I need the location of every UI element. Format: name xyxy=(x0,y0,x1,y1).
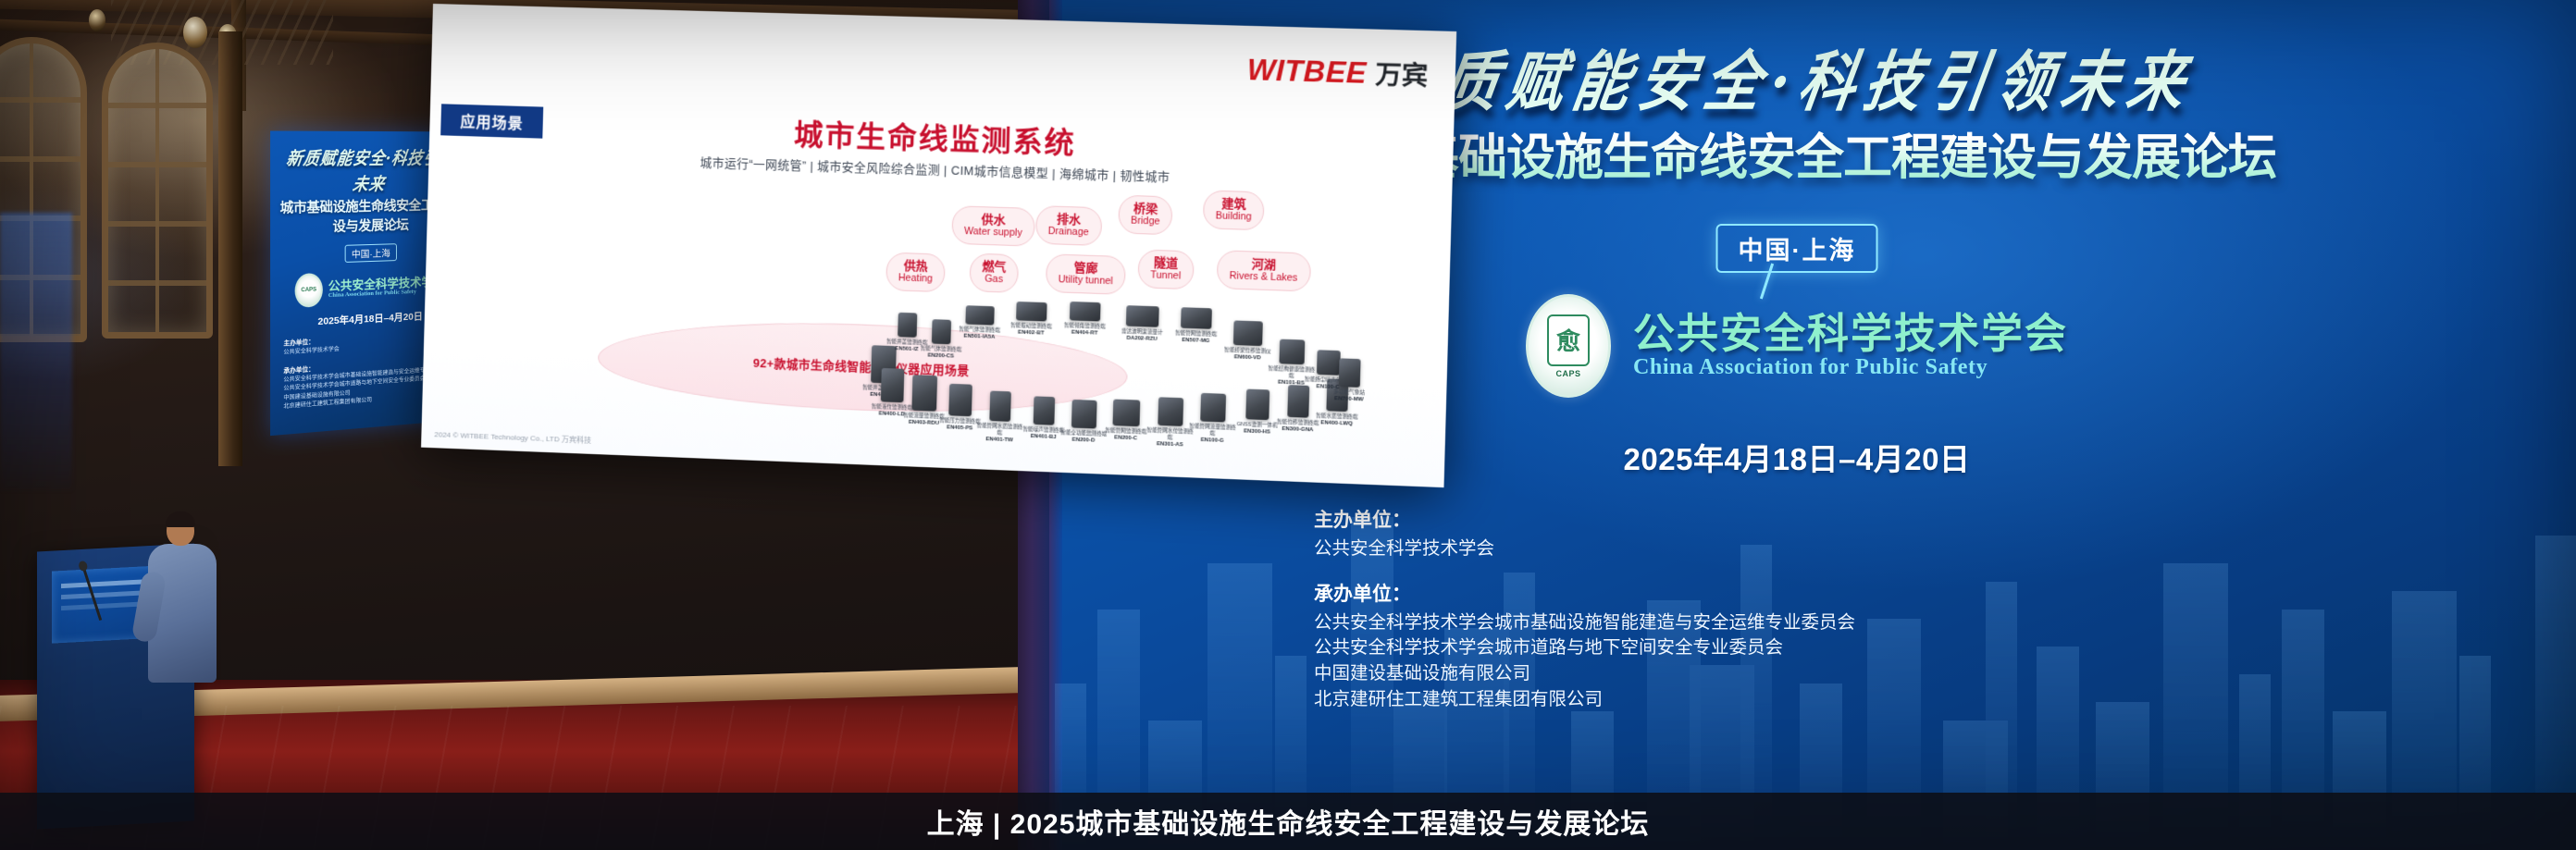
presentation-slide: WITBEE 万宾 应用场景 城市生命线监测系统 城市运行“一网统管” | 城市… xyxy=(421,4,1456,487)
led-coorg-line-3: 中国建设基础设施有限公司 xyxy=(1314,661,2452,687)
device-item-18: 雷达波明渠流量计DA202-RZU xyxy=(1117,305,1168,343)
device-item-15: 智能气体监测终端EN501-IA5A xyxy=(955,305,1005,340)
scenario-pill-en: Water supply xyxy=(964,226,1022,239)
caps-seal-caps: CAPS xyxy=(1555,369,1580,378)
device-item-17: 智能倾角监测终端EN404-RT xyxy=(1059,302,1110,338)
scenario-pill-en: Building xyxy=(1216,211,1252,224)
scenario-pill-cn: 建筑 xyxy=(1216,197,1252,212)
device-image xyxy=(1034,396,1056,425)
device-image xyxy=(989,391,1011,422)
caps-seal-glyph: 愈 xyxy=(1547,314,1590,366)
side-led-host-1: 公共安全科学技术学会 xyxy=(283,347,339,356)
led-coorg-line-4: 北京建研住工建筑工程集团有限公司 xyxy=(1314,687,2452,713)
side-led-coorg-heading: 承办单位： xyxy=(283,366,314,375)
slide-footer: 2024 © WITBEE Technology Co., LTD 万宾科技 xyxy=(434,429,591,446)
witbee-logo-cn: 万宾 xyxy=(1375,54,1429,92)
led-coorg-heading: 承办单位： xyxy=(1314,579,2452,607)
scenario-pill-cn: 供热 xyxy=(898,259,933,274)
screenshot-root: 新质赋能安全·科技引领未来 城市基础设施生命线安全工程建设与发展论坛 中国·上海… xyxy=(0,0,2576,850)
device-image xyxy=(1158,397,1183,426)
caps-seal-icon: 愈 CAPS xyxy=(1526,294,1611,398)
led-coorg-line-1: 公共安全科学技术学会城市基础设施智能建造与安全运维专业委员会 xyxy=(1314,610,2452,636)
led-org-cn: 公共安全科学技术学会 xyxy=(1633,312,2068,355)
device-image xyxy=(1070,302,1101,322)
scenario-pill-4: 供热Heating xyxy=(885,253,946,292)
device-item-9: 智能管网流量监测终端EN100-G xyxy=(1187,392,1239,444)
scenario-pill-en: Rivers & Lakes xyxy=(1229,271,1297,285)
side-led-location-chip: 中国·上海 xyxy=(345,243,397,263)
scenario-pill-cn: 桥梁 xyxy=(1131,202,1160,216)
device-image xyxy=(898,313,917,338)
stage-spotlight xyxy=(89,9,105,31)
caption-bar: 上海 | 2025城市基础设施生命线安全工程建设与发展论坛 xyxy=(0,793,2576,850)
device-image xyxy=(1071,400,1097,429)
scenario-pill-cn: 隧道 xyxy=(1150,256,1181,271)
wall-column xyxy=(218,31,242,466)
device-image xyxy=(1279,339,1305,365)
scenario-pill-0: 供水Water supply xyxy=(951,205,1035,246)
scenario-pill-en: Utility tunnel xyxy=(1059,275,1113,288)
device-image xyxy=(932,319,951,344)
scenario-pill-en: Heating xyxy=(898,273,933,285)
device-item-16: 智能振动监测终端EN402-BT xyxy=(1006,302,1057,337)
device-item-19: 智能管网监测终端EN507-MG xyxy=(1170,307,1221,345)
scenario-pill-en: Drainage xyxy=(1048,226,1089,239)
device-image xyxy=(1181,307,1212,329)
scenario-pill-7: 隧道Tunnel xyxy=(1137,249,1194,289)
led-org-en: China Association for Public Safety xyxy=(1633,355,2068,380)
scenario-pill-en: Bridge xyxy=(1131,216,1160,228)
device-code: EN401-TW xyxy=(974,437,1024,444)
device-image xyxy=(911,375,937,411)
led-organizers: 主办单位： 公共安全科学技术学会 承办单位： 公共安全科学技术学会城市基础设施智… xyxy=(1314,505,2452,712)
speaker-person xyxy=(139,514,228,699)
device-item-23: 多功能气象站EN700-MW xyxy=(1324,358,1376,403)
device-image xyxy=(1016,302,1047,321)
side-led-host-heading: 主办单位： xyxy=(283,339,314,347)
device-image xyxy=(1233,320,1263,346)
device-image xyxy=(1200,393,1226,423)
scenario-pill-en: Gas xyxy=(982,274,1006,286)
led-host-heading: 主办单位： xyxy=(1314,505,2452,533)
scenario-pill-1: 排水Drainage xyxy=(1035,205,1102,246)
scenario-pill-en: Tunnel xyxy=(1150,270,1181,282)
led-location-chip: 中国·上海 xyxy=(1716,224,1878,273)
device-image xyxy=(1287,385,1309,418)
device-image xyxy=(965,305,994,325)
scenario-pill-cn: 排水 xyxy=(1048,213,1089,228)
device-item-20: 智能桥梁位移监测仪EN600-VD xyxy=(1222,320,1273,362)
witbee-logo-en: WITBEE xyxy=(1246,54,1367,92)
device-image xyxy=(1245,389,1269,421)
scenario-pill-3: 建筑Building xyxy=(1203,190,1265,230)
caption-text: 上海 | 2025城市基础设施生命线安全工程建设与发展论坛 xyxy=(927,801,1650,842)
caps-seal-icon: CAPS xyxy=(295,273,323,308)
led-host-line-1: 公共安全科学技术学会 xyxy=(1314,536,2452,562)
device-image xyxy=(1339,358,1361,388)
blue-light-wash xyxy=(0,213,72,490)
scenario-pill-cn: 燃气 xyxy=(982,260,1006,275)
arched-window xyxy=(102,43,213,339)
device-image xyxy=(948,384,972,416)
scenario-pill-2: 桥梁Bridge xyxy=(1118,195,1173,235)
device-image xyxy=(1112,400,1140,427)
witbee-logo: WITBEE 万宾 xyxy=(1246,50,1429,92)
led-coorg-line-2: 公共安全科学技术学会城市道路与地下空间安全专业委员会 xyxy=(1314,635,2452,661)
scenario-pill-5: 燃气Gas xyxy=(969,253,1019,293)
scenario-pill-6: 管廊Utility tunnel xyxy=(1046,253,1126,294)
scenario-pill-8: 河湖Rivers & Lakes xyxy=(1217,250,1311,291)
device-image xyxy=(1126,305,1159,327)
